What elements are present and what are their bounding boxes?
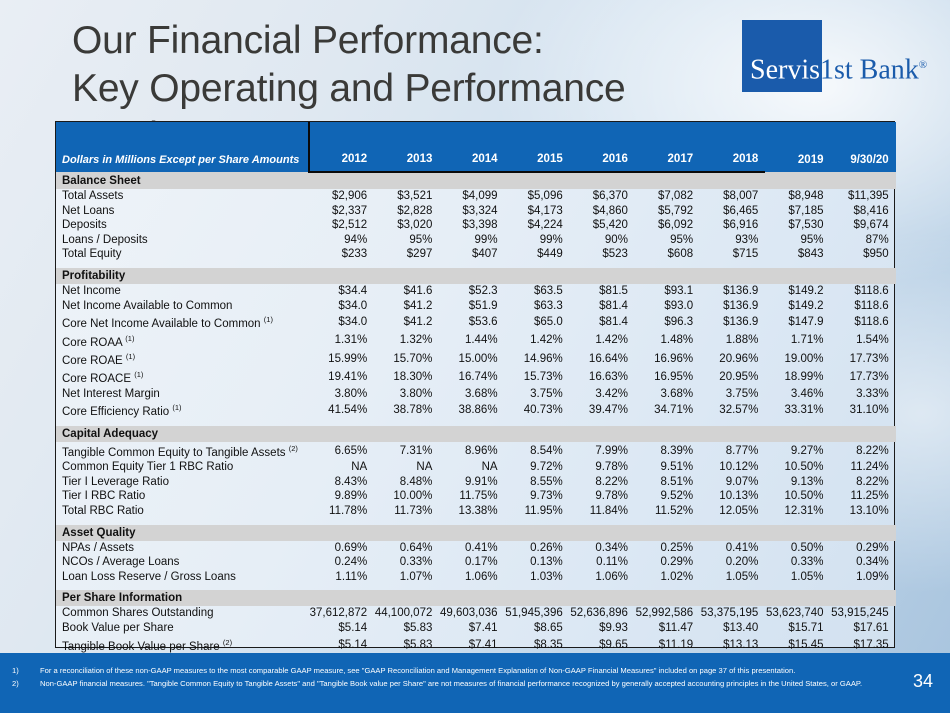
table-row: NPAs / Assets0.69%0.64%0.41%0.26%0.34%0.… (56, 541, 896, 556)
table-row: Loan Loss Reserve / Gross Loans1.11%1.07… (56, 570, 896, 585)
table-cell: $7,082 (635, 189, 700, 204)
table-cell: $13.40 (700, 621, 765, 636)
row-label: NCOs / Average Loans (56, 555, 309, 570)
row-label-text: Core ROAA (62, 336, 122, 348)
table-cell: 13.38% (439, 504, 504, 519)
table-cell: NA (374, 460, 439, 475)
table-cell: 99% (505, 233, 570, 248)
table-cell: $7.41 (439, 636, 504, 654)
logo-word-1st-bank: 1st Bank (820, 54, 919, 85)
table-row: Net Income$34.4$41.6$52.3$63.5$81.5$93.1… (56, 284, 896, 299)
table-cell: 0.41% (439, 541, 504, 556)
table-cell: 9.73% (505, 489, 570, 504)
table-cell: $34.0 (309, 313, 374, 331)
row-label: Book Value per Share (56, 621, 309, 636)
table-cell: 13.10% (831, 504, 896, 519)
table-cell: 10.13% (700, 489, 765, 504)
table-cell: 3.80% (309, 387, 374, 402)
table-cell: 38.78% (374, 401, 439, 419)
footnote-1-text: For a reconciliation of these non-GAAP m… (40, 665, 892, 677)
table-cell: 14.96% (505, 350, 570, 368)
table-cell: 1.06% (439, 570, 504, 585)
row-label-text: Tier I Leverage Ratio (62, 476, 169, 488)
table-cell: 3.68% (439, 387, 504, 402)
section-header-row: Capital Adequacy (56, 426, 896, 442)
table-cell: 53,623,740 (765, 606, 830, 621)
table-row: Core Efficiency Ratio (1)41.54%38.78%38.… (56, 401, 896, 419)
table-cell: 32.57% (700, 401, 765, 419)
row-label-text: Total Equity (62, 248, 121, 260)
table-cell: $5.14 (309, 636, 374, 654)
table-cell: 11.73% (374, 504, 439, 519)
table-cell: $81.4 (570, 299, 635, 314)
table-cell: $41.2 (374, 313, 439, 331)
row-label: Net Income Available to Common (56, 299, 309, 314)
column-header-2016: 2016 (570, 122, 635, 172)
table-cell: 8.55% (505, 475, 570, 490)
footnote-reference: (2) (223, 638, 232, 647)
table-cell: $118.6 (831, 299, 896, 314)
table-cell: $51.9 (439, 299, 504, 314)
row-label-text: Total RBC Ratio (62, 505, 144, 517)
table-cell: 0.17% (439, 555, 504, 570)
row-label: Loan Loss Reserve / Gross Loans (56, 570, 309, 585)
table-cell: 0.41% (700, 541, 765, 556)
table-cell: $2,828 (374, 204, 439, 219)
table-cell: 8.22% (831, 442, 896, 460)
table-cell: 8.22% (570, 475, 635, 490)
table-cell: NA (439, 460, 504, 475)
footnote-reference: (1) (172, 403, 181, 412)
table-cell: $13.13 (700, 636, 765, 654)
table-cell: 15.99% (309, 350, 374, 368)
section-title: Asset Quality (56, 525, 896, 541)
logo-wordmark: Servis1st Bank® (750, 50, 927, 85)
table-cell: 3.75% (700, 387, 765, 402)
table-cell: NA (309, 460, 374, 475)
row-label: Tangible Common Equity to Tangible Asset… (56, 442, 309, 460)
table-row: Total RBC Ratio11.78%11.73%13.38%11.95%1… (56, 504, 896, 519)
table-cell: $34.4 (309, 284, 374, 299)
column-header-ytd: 9/30/20 (831, 122, 896, 172)
table-row: Net Interest Margin3.80%3.80%3.68%3.75%3… (56, 387, 896, 402)
table-row: Core ROAA (1)1.31%1.32%1.44%1.42%1.42%1.… (56, 332, 896, 350)
table-cell: $136.9 (700, 299, 765, 314)
section-header-row: Per Share Information (56, 590, 896, 606)
column-header-2019: 2019 (765, 122, 830, 172)
table-cell: 1.02% (635, 570, 700, 585)
table-row: Total Assets$2,906$3,521$4,099$5,096$6,3… (56, 189, 896, 204)
servisfirst-bank-logo: Servis1st Bank® (742, 20, 936, 92)
table-cell: 11.24% (831, 460, 896, 475)
table-row: Deposits$2,512$3,020$3,398$4,224$5,420$6… (56, 218, 896, 233)
row-label: Net Interest Margin (56, 387, 309, 402)
table-cell: 11.95% (505, 504, 570, 519)
table-cell: $8,416 (831, 204, 896, 219)
row-label: Tier I Leverage Ratio (56, 475, 309, 490)
table-cell: $5.14 (309, 621, 374, 636)
table-cell: $950 (831, 247, 896, 262)
row-label: Total Equity (56, 247, 309, 262)
table-cell: $93.0 (635, 299, 700, 314)
table-cell: 33.31% (765, 401, 830, 419)
table-cell: 1.42% (505, 332, 570, 350)
table-cell: 38.86% (439, 401, 504, 419)
table-cell: $5.83 (374, 621, 439, 636)
table-cell: $149.2 (765, 284, 830, 299)
table-cell: $81.5 (570, 284, 635, 299)
table-cell: $65.0 (505, 313, 570, 331)
row-label-text: Total Assets (62, 190, 123, 202)
table-cell: $407 (439, 247, 504, 262)
table-cell: $3,324 (439, 204, 504, 219)
row-label: Core ROACE (1) (56, 368, 309, 386)
table-cell: $4,099 (439, 189, 504, 204)
row-label-text: Net Loans (62, 205, 114, 217)
row-label-text: NPAs / Assets (62, 542, 134, 554)
table-cell: $233 (309, 247, 374, 262)
row-label-text: Common Shares Outstanding (62, 607, 214, 619)
table-cell: 10.00% (374, 489, 439, 504)
table-cell: 8.54% (505, 442, 570, 460)
table-cell: 0.69% (309, 541, 374, 556)
table-cell: $843 (765, 247, 830, 262)
table-row: Tier I Leverage Ratio8.43%8.48%9.91%8.55… (56, 475, 896, 490)
table-cell: 0.34% (570, 541, 635, 556)
table-cell: 16.95% (635, 368, 700, 386)
table-cell: $15.45 (765, 636, 830, 654)
table-row: Tangible Common Equity to Tangible Asset… (56, 442, 896, 460)
row-label-text: Common Equity Tier 1 RBC Ratio (62, 461, 233, 473)
table-cell: 1.44% (439, 332, 504, 350)
table-cell: 10.12% (700, 460, 765, 475)
table-cell: 0.64% (374, 541, 439, 556)
table-cell: 53,375,195 (700, 606, 765, 621)
column-header-2015: 2015 (505, 122, 570, 172)
table-row: Core ROAE (1)15.99%15.70%15.00%14.96%16.… (56, 350, 896, 368)
table-cell: 8.96% (439, 442, 504, 460)
table-cell: 3.75% (505, 387, 570, 402)
table-cell: 95% (635, 233, 700, 248)
table-cell: $118.6 (831, 284, 896, 299)
row-label: Tier I RBC Ratio (56, 489, 309, 504)
table-cell: 95% (765, 233, 830, 248)
table-cell: 3.68% (635, 387, 700, 402)
table-cell: $715 (700, 247, 765, 262)
table-cell: $2,337 (309, 204, 374, 219)
table-row: Total Equity$233$297$407$449$523$608$715… (56, 247, 896, 262)
table-cell: 52,992,586 (635, 606, 700, 621)
column-header-2012: 2012 (309, 122, 374, 172)
table-cell: 18.99% (765, 368, 830, 386)
table-cell: $63.5 (505, 284, 570, 299)
table-cell: 53,915,245 (831, 606, 896, 621)
table-cell: $5,792 (635, 204, 700, 219)
table-cell: 3.46% (765, 387, 830, 402)
table-cell: 9.89% (309, 489, 374, 504)
table-cell: 95% (374, 233, 439, 248)
table-cell: 51,945,396 (505, 606, 570, 621)
row-label: Common Equity Tier 1 RBC Ratio (56, 460, 309, 475)
table-cell: 18.30% (374, 368, 439, 386)
section-title: Profitability (56, 268, 896, 284)
section-header-row: Balance Sheet (56, 172, 896, 189)
row-label: Total Assets (56, 189, 309, 204)
table-cell: 9.78% (570, 460, 635, 475)
footnote-1: 1) For a reconciliation of these non-GAA… (12, 665, 892, 677)
table-cell: 20.95% (700, 368, 765, 386)
table-cell: 1.31% (309, 332, 374, 350)
table-cell: 0.33% (765, 555, 830, 570)
table-cell: 19.41% (309, 368, 374, 386)
table-cell: $17.61 (831, 621, 896, 636)
table-cell: $7,185 (765, 204, 830, 219)
table-cell: $9,674 (831, 218, 896, 233)
table-cell: 31.10% (831, 401, 896, 419)
row-label-text: Loans / Deposits (62, 234, 148, 246)
logo-word-servis: Servis (750, 54, 820, 85)
table-cell: $9.93 (570, 621, 635, 636)
table-row: Tier I RBC Ratio9.89%10.00%11.75%9.73%9.… (56, 489, 896, 504)
table-cell: 8.22% (831, 475, 896, 490)
table-cell: 0.29% (635, 555, 700, 570)
table-cell: $136.9 (700, 313, 765, 331)
table-cell: $118.6 (831, 313, 896, 331)
table-cell: $41.2 (374, 299, 439, 314)
table-cell: 0.11% (570, 555, 635, 570)
table-cell: 11.84% (570, 504, 635, 519)
section-title: Capital Adequacy (56, 426, 896, 442)
table-cell: 11.78% (309, 504, 374, 519)
table-cell: 9.91% (439, 475, 504, 490)
footnote-reference: (1) (125, 334, 134, 343)
table-cell: $3,020 (374, 218, 439, 233)
section-title: Balance Sheet (56, 172, 896, 189)
table-cell: $523 (570, 247, 635, 262)
row-label: NPAs / Assets (56, 541, 309, 556)
row-label-text: Tangible Book Value per Share (62, 640, 220, 652)
footnote-reference: (1) (126, 352, 135, 361)
table-row: Net Income Available to Common$34.0$41.2… (56, 299, 896, 314)
footnote-reference: (2) (289, 444, 298, 453)
table-cell: 12.31% (765, 504, 830, 519)
table-row: Loans / Deposits94%95%99%99%90%95%93%95%… (56, 233, 896, 248)
table-cell: $449 (505, 247, 570, 262)
table-cell: 10.50% (765, 489, 830, 504)
table-row: Tangible Book Value per Share (2)$5.14$5… (56, 636, 896, 654)
table-cell: 3.42% (570, 387, 635, 402)
table-cell: 15.00% (439, 350, 504, 368)
table-cell: 39.47% (570, 401, 635, 419)
table-cell: $8,007 (700, 189, 765, 204)
table-cell: 7.31% (374, 442, 439, 460)
metrics-table: Dollars in Millions Except per Share Amo… (56, 122, 896, 687)
table-row: Core ROACE (1)19.41%18.30%16.74%15.73%16… (56, 368, 896, 386)
table-cell: 0.24% (309, 555, 374, 570)
table-row: Net Loans$2,337$2,828$3,324$4,173$4,860$… (56, 204, 896, 219)
page-title-line1: Our Financial Performance: (72, 19, 544, 62)
table-cell: 16.64% (570, 350, 635, 368)
footnote-1-marker: 1) (12, 665, 19, 677)
table-cell: $7,530 (765, 218, 830, 233)
table-cell: $8.65 (505, 621, 570, 636)
row-label: Tangible Book Value per Share (2) (56, 636, 309, 654)
table-cell: 15.73% (505, 368, 570, 386)
table-row: NCOs / Average Loans0.24%0.33%0.17%0.13%… (56, 555, 896, 570)
table-cell: 94% (309, 233, 374, 248)
row-label: Deposits (56, 218, 309, 233)
table-cell: 17.73% (831, 350, 896, 368)
table-cell: 20.96% (700, 350, 765, 368)
table-cell: 15.70% (374, 350, 439, 368)
table-cell: 0.26% (505, 541, 570, 556)
table-cell: $63.3 (505, 299, 570, 314)
section-title: Per Share Information (56, 590, 896, 606)
table-cell: 16.74% (439, 368, 504, 386)
table-cell: $149.2 (765, 299, 830, 314)
table-cell: $8.35 (505, 636, 570, 654)
table-cell: 0.29% (831, 541, 896, 556)
column-header-2013: 2013 (374, 122, 439, 172)
table-cell: 34.71% (635, 401, 700, 419)
table-cell: 41.54% (309, 401, 374, 419)
table-cell: 90% (570, 233, 635, 248)
footnote-2-marker: 2) (12, 678, 19, 690)
table-cell: 1.42% (570, 332, 635, 350)
table-row: Common Equity Tier 1 RBC RatioNANANA9.72… (56, 460, 896, 475)
table-cell: $5,420 (570, 218, 635, 233)
table-cell: 11.25% (831, 489, 896, 504)
column-header-2018: 2018 (700, 122, 765, 172)
metrics-table-container: Dollars in Millions Except per Share Amo… (55, 121, 895, 648)
table-cell: $11.19 (635, 636, 700, 654)
row-label: Core Net Income Available to Common (1) (56, 313, 309, 331)
footnote-reference: (1) (134, 370, 143, 379)
column-header-2017: 2017 (635, 122, 700, 172)
table-cell: 40.73% (505, 401, 570, 419)
row-label-text: Deposits (62, 219, 107, 231)
table-cell: 9.51% (635, 460, 700, 475)
table-cell: 0.50% (765, 541, 830, 556)
table-cell: $96.3 (635, 313, 700, 331)
table-cell: 16.63% (570, 368, 635, 386)
column-header-2014: 2014 (439, 122, 504, 172)
row-label-text: Net Interest Margin (62, 388, 160, 400)
table-cell: 8.39% (635, 442, 700, 460)
table-cell: 99% (439, 233, 504, 248)
table-row: Book Value per Share$5.14$5.83$7.41$8.65… (56, 621, 896, 636)
row-label: Total RBC Ratio (56, 504, 309, 519)
table-cell: 1.71% (765, 332, 830, 350)
table-cell: $136.9 (700, 284, 765, 299)
table-cell: $34.0 (309, 299, 374, 314)
table-cell: 1.09% (831, 570, 896, 585)
row-label-text: Core Efficiency Ratio (62, 406, 169, 418)
table-cell: 12.05% (700, 504, 765, 519)
table-cell: 0.34% (831, 555, 896, 570)
row-label-text: Core ROAE (62, 355, 123, 367)
table-row: Core Net Income Available to Common (1)$… (56, 313, 896, 331)
table-body: Balance SheetTotal Assets$2,906$3,521$4,… (56, 172, 896, 687)
table-cell: $4,860 (570, 204, 635, 219)
table-cell: 19.00% (765, 350, 830, 368)
table-cell: $6,370 (570, 189, 635, 204)
table-cell: 1.32% (374, 332, 439, 350)
page-number: 34 (913, 671, 933, 692)
registered-trademark-icon: ® (919, 59, 927, 71)
table-cell: 10.50% (765, 460, 830, 475)
table-cell: 9.07% (700, 475, 765, 490)
row-label: Net Loans (56, 204, 309, 219)
footnote-2-text: Non-GAAP financial measures. "Tangible C… (40, 678, 892, 690)
table-cell: 1.11% (309, 570, 374, 585)
footnote-2: 2) Non-GAAP financial measures. "Tangibl… (12, 678, 892, 690)
table-cell: $52.3 (439, 284, 504, 299)
table-cell: 1.03% (505, 570, 570, 585)
table-cell: 87% (831, 233, 896, 248)
table-cell: 0.33% (374, 555, 439, 570)
row-label-text: Core Net Income Available to Common (62, 318, 261, 330)
table-cell: 6.65% (309, 442, 374, 460)
header-row: Dollars in Millions Except per Share Amo… (56, 122, 896, 172)
table-cell: $4,224 (505, 218, 570, 233)
footer-bar: 1) For a reconciliation of these non-GAA… (0, 653, 950, 713)
table-cell: $41.6 (374, 284, 439, 299)
table-cell: $297 (374, 247, 439, 262)
table-cell: 7.99% (570, 442, 635, 460)
table-cell: 1.54% (831, 332, 896, 350)
table-cell: $9.65 (570, 636, 635, 654)
row-label-text: Loan Loss Reserve / Gross Loans (62, 571, 236, 583)
row-label-text: Book Value per Share (62, 622, 174, 634)
table-cell: 11.52% (635, 504, 700, 519)
row-label-text: NCOs / Average Loans (62, 556, 179, 568)
table-cell: $4,173 (505, 204, 570, 219)
section-header-row: Asset Quality (56, 525, 896, 541)
table-cell: $5.83 (374, 636, 439, 654)
table-cell: $81.4 (570, 313, 635, 331)
row-label: Core Efficiency Ratio (1) (56, 401, 309, 419)
slide-canvas: Our Financial Performance: Key Operating… (0, 0, 950, 713)
table-cell: 0.13% (505, 555, 570, 570)
table-cell: $93.1 (635, 284, 700, 299)
section-header-row: Profitability (56, 268, 896, 284)
table-cell: 9.72% (505, 460, 570, 475)
row-label-text: Tier I RBC Ratio (62, 490, 145, 502)
row-label: Common Shares Outstanding (56, 606, 309, 621)
table-cell: 37,612,872 (309, 606, 374, 621)
row-label: Loans / Deposits (56, 233, 309, 248)
table-cell: $147.9 (765, 313, 830, 331)
table-cell: 93% (700, 233, 765, 248)
row-label-text: Tangible Common Equity to Tangible Asset… (62, 447, 286, 459)
table-cell: $7.41 (439, 621, 504, 636)
table-cell: $17.35 (831, 636, 896, 654)
table-cell: 8.51% (635, 475, 700, 490)
row-label: Net Income (56, 284, 309, 299)
row-label: Core ROAA (1) (56, 332, 309, 350)
table-cell: 16.96% (635, 350, 700, 368)
table-cell: 1.48% (635, 332, 700, 350)
table-cell: $5,096 (505, 189, 570, 204)
table-cell: 1.07% (374, 570, 439, 585)
table-cell: 3.33% (831, 387, 896, 402)
table-cell: $6,092 (635, 218, 700, 233)
column-header-label: Dollars in Millions Except per Share Amo… (56, 122, 309, 172)
table-cell: 8.77% (700, 442, 765, 460)
table-cell: $11,395 (831, 189, 896, 204)
table-cell: $2,512 (309, 218, 374, 233)
